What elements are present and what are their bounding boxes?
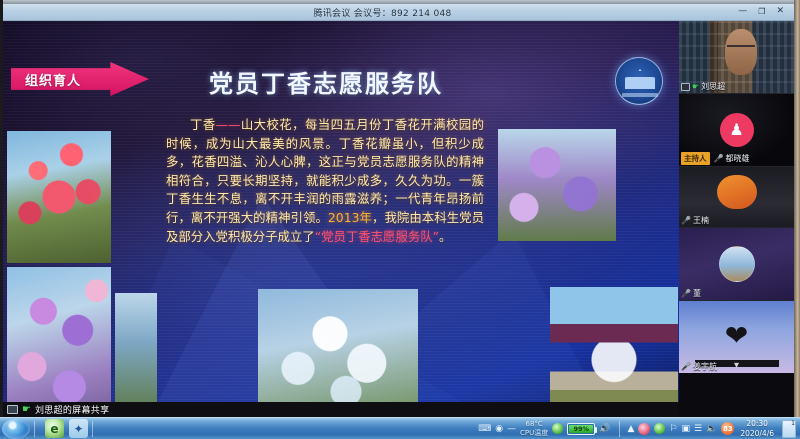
thumbnail-image: [717, 175, 757, 209]
hand-raise-icon: ☛: [22, 405, 31, 415]
network-globe-icon[interactable]: ◉: [495, 424, 503, 434]
lilac-campus-photo: [498, 129, 616, 241]
campus-building-photo: [550, 287, 678, 406]
battery-percent: 99%: [568, 425, 594, 433]
meeting-title-text: 腾讯会议 会议号：892 214 048: [313, 6, 451, 19]
mic-muted-icon: 🎤: [714, 155, 724, 163]
meeting-window-titlebar: 腾讯会议 会议号：892 214 048 — ❐ ✕: [3, 4, 794, 21]
body-end: 。: [439, 229, 451, 244]
chevron-down-icon[interactable]: ▾: [734, 361, 739, 371]
slide-title: 党员丁香志愿服务队: [209, 64, 443, 99]
keyboard-icon[interactable]: ⌨: [478, 424, 491, 434]
hand-raise-icon: ☛: [692, 83, 699, 91]
section-arrow-label: 组织育人: [11, 70, 81, 89]
participant-tile[interactable]: ❤ 🎤 姜宇航 ▾: [679, 301, 794, 373]
screenshot-icon[interactable]: ▣: [682, 424, 691, 434]
maximize-button[interactable]: ❐: [758, 6, 765, 17]
clock-time: 20:30: [740, 419, 774, 429]
screenshot-root: 腾讯会议 会议号：892 214 048 — ❐ ✕ 组织育人 党员丁香志愿服务…: [0, 0, 800, 439]
lilac-white-photo: [258, 289, 418, 406]
ie-browser-icon[interactable]: e: [45, 419, 64, 438]
body-part-2: 山大校花，每当四五月份丁香花开满校园的时候，成为山大最美的风景。丁香花瓣虽小，但…: [166, 117, 484, 225]
participant-name-row: 🎤 姜宇航: [681, 361, 717, 372]
status-badge: 主持人: [681, 152, 710, 165]
taskbar-clock[interactable]: 20:30 2020/4/6: [738, 419, 776, 438]
participant-name: 王楠: [693, 215, 709, 226]
minimize-button[interactable]: —: [738, 6, 747, 17]
seal-building-glyph: [625, 69, 655, 91]
mic-muted-icon: 🎤: [681, 363, 691, 371]
wechat-icon[interactable]: [654, 423, 665, 434]
participant-name: 刘思超: [701, 81, 725, 92]
taskbar-divider: [92, 421, 93, 437]
participant-name-row: 🎤 王楠: [681, 215, 709, 226]
taskbar-divider: [34, 421, 35, 437]
start-button[interactable]: [2, 419, 30, 439]
participant-tile[interactable]: ♟ 主持人 🎤 都晓雄: [679, 94, 794, 166]
show-desktop-button[interactable]: 1: [782, 420, 796, 438]
participant-face: [725, 29, 757, 75]
monitor-icon: [681, 83, 690, 91]
speaker-icon[interactable]: 🔈: [706, 424, 717, 434]
participant-name-row: ☛ 刘思超: [681, 81, 725, 92]
shared-screen-area[interactable]: 组织育人 党员丁香志愿服务队 丁香——山大校花，每当四五月份丁香花开满校园的时候…: [3, 21, 679, 406]
qq-icon[interactable]: [638, 423, 650, 435]
quick-launch-bar[interactable]: e ✦: [45, 419, 88, 438]
notification-badge[interactable]: 83: [721, 422, 734, 435]
cpu-temp-label: CPU温度: [520, 429, 548, 438]
body-year-highlight: 2013年: [328, 210, 372, 225]
body-quoted-team-name: “党员丁香志愿服务队”: [315, 229, 439, 244]
participant-name: 董: [693, 288, 701, 299]
body-part-1: 丁香: [190, 117, 216, 132]
participant-name: 都晓雄: [725, 153, 749, 164]
network-signal-icon[interactable]: ☰: [694, 424, 702, 434]
heart-icon: ❤: [725, 322, 748, 350]
monitor-bezel-left: [0, 0, 3, 439]
university-seal-icon: [615, 57, 663, 105]
security-shield-icon[interactable]: [552, 423, 563, 434]
seal-base-glyph: [622, 93, 658, 97]
screen-share-footer: ☛ 刘思超的屏幕共享: [3, 402, 679, 417]
participants-sidebar[interactable]: ☛ 刘思超 ♟ 主持人 🎤 都晓雄 🎤: [679, 21, 794, 417]
mic-muted-icon: 🎤: [681, 217, 691, 225]
body-dash: ——: [216, 117, 241, 132]
participant-tile[interactable]: 🎤 王楠: [679, 167, 794, 227]
participant-name-row: 主持人 🎤 都晓雄: [681, 152, 749, 165]
monitor-icon: [7, 405, 18, 414]
windows-taskbar[interactable]: e ✦ ⌨ ◉ — 68°C CPU温度 99% 🔊 ▲ ⚐ ▣: [0, 417, 800, 439]
participant-name-row: 🎤 董: [681, 288, 701, 299]
system-tray[interactable]: ⌨ ◉ — 68°C CPU温度 99% 🔊 ▲ ⚐ ▣ ☰ 🔈 83: [478, 419, 800, 438]
wps-office-icon[interactable]: ✦: [69, 419, 88, 438]
battery-indicator[interactable]: 99%: [567, 423, 595, 435]
screen-share-label: 刘思超的屏幕共享: [35, 403, 109, 416]
participant-tile[interactable]: 🎤 董: [679, 228, 794, 300]
mic-muted-icon: 🎤: [681, 290, 691, 298]
close-button[interactable]: ✕: [776, 6, 784, 17]
slide-body-text: 丁香——山大校花，每当四五月份丁香花开满校园的时候，成为山大最美的风景。丁香花瓣…: [166, 116, 484, 246]
clock-date: 2020/4/6: [740, 429, 774, 439]
participant-name: 姜宇航: [693, 361, 717, 372]
lilac-red-photo: [7, 131, 111, 263]
taskbar-divider: [619, 421, 620, 437]
lilac-purple-photo: [7, 267, 111, 406]
battery-tip: [595, 427, 597, 433]
flag-icon[interactable]: ⚐: [669, 424, 677, 434]
glasses-icon: [727, 45, 755, 52]
participant-tile[interactable]: ☛ 刘思超: [679, 21, 794, 93]
avatar: ♟: [720, 113, 754, 147]
avatar-glyph-icon: ♟: [729, 122, 743, 138]
avatar: [719, 246, 755, 282]
monitor-bezel-right: [794, 0, 800, 439]
chevron-up-icon[interactable]: ▲: [628, 424, 635, 434]
cpu-temp-value: 68°C: [520, 420, 548, 429]
volume-icon[interactable]: 🔊: [599, 424, 610, 434]
show-desktop-badge: 1: [791, 420, 795, 427]
cpu-temperature-widget[interactable]: 68°C CPU温度: [520, 420, 548, 437]
ime-icon[interactable]: —: [507, 424, 516, 434]
window-controls: — ❐ ✕: [738, 6, 784, 17]
campus-path-photo: [115, 293, 157, 406]
